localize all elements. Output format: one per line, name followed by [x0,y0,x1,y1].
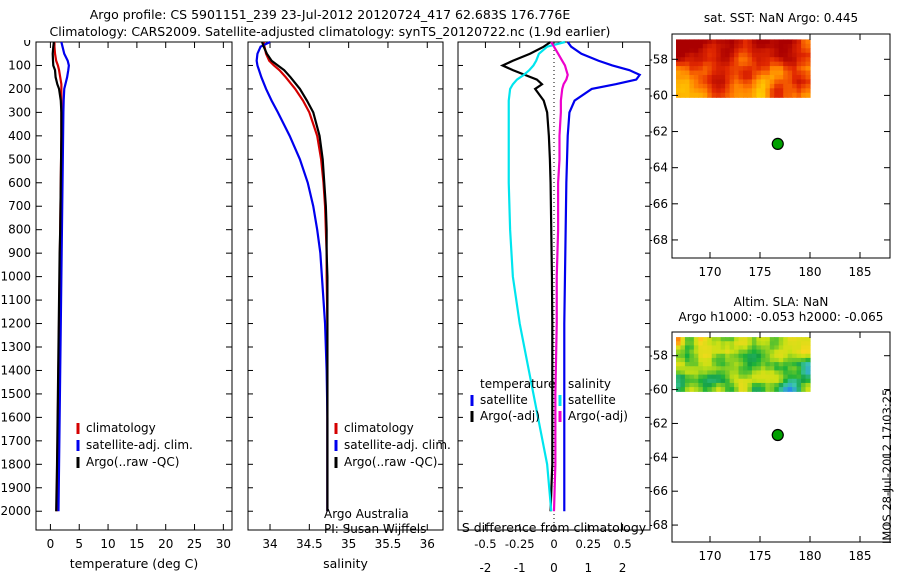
sla-map-panel[interactable]: Altim. SLA: NaNArgo h1000: -0.053 h2000:… [650,292,900,580]
title-line-2: Climatology: CARS2009. Satellite-adjuste… [0,23,660,40]
series-temperature-satellite [564,42,639,511]
legend-label: Argo(-adj) [480,409,540,423]
x-tick-label-bottom: -2 [479,561,491,575]
legend-label: Argo(..raw -QC) [86,455,179,469]
legend-heading: salinity [568,377,611,391]
x-tick-label: 25 [187,537,202,551]
profile-location-marker[interactable] [772,430,783,441]
legend-label: climatology [86,421,156,435]
map-y-tick-label: -58 [650,349,668,363]
y-tick-label: 1700 [0,434,31,448]
series-satellite-adj-clim- [257,42,328,511]
sla-map-title: Altim. SLA: NaN [734,295,829,309]
y-tick-label: 1400 [0,363,31,377]
y-tick-label: 1300 [0,340,31,354]
legend-label: satellite [480,393,528,407]
y-tick-label: 600 [8,176,31,190]
legend-label: Argo(-adj) [568,409,628,423]
x-tick-label: 10 [100,537,115,551]
annotation-pi: PI: Susan Wijffels [324,522,426,536]
x-axis-label: temperature (deg C) [70,556,199,571]
y-tick-label: 400 [8,129,31,143]
sst-map-panel[interactable]: sat. SST: NaN Argo: 0.445-58-60-62-64-66… [650,8,900,294]
series-climatology [264,42,328,511]
figure-title: Argo profile: CS 5901151_239 23-Jul-2012… [0,6,660,40]
map-x-tick-label: 185 [849,265,872,279]
x-tick-label-bottom: 0 [550,561,558,575]
x-tick-label-top: 0 [550,537,557,551]
map-y-tick-label: -58 [650,52,668,66]
x-tick-label-top: -0.25 [505,537,535,551]
series-temperature-argo-adj- [503,42,553,511]
x-tick-label: 35.5 [375,537,402,551]
map-x-tick-label: 180 [799,265,822,279]
map-y-tick-label: -60 [650,383,668,397]
legend-label: climatology [344,421,414,435]
y-tick-label: 200 [8,82,31,96]
legend-label: Argo(..raw -QC) [344,455,437,469]
y-tick-label: 1800 [0,457,31,471]
map-y-tick-label: -66 [650,197,668,211]
legend-label: satellite-adj. clim. [86,438,193,452]
map-y-tick-label: -68 [650,518,668,532]
y-tick-label: 1000 [0,270,31,284]
map-x-tick-label: 185 [849,549,872,563]
map-x-tick-label: 180 [799,549,822,563]
profile-location-marker[interactable] [772,138,783,149]
sst-map-raster [676,39,811,97]
x-tick-label-bottom: 1 [584,561,592,575]
y-tick-label: 1100 [0,293,31,307]
x-axis-label: salinity [323,556,368,571]
map-x-tick-label: 175 [749,265,772,279]
map-y-tick-label: -66 [650,484,668,498]
temperature-panel[interactable]: 0100200300400500600700800900100011001200… [0,40,238,580]
y-tick-label: 900 [8,246,31,260]
x-tick-label: 15 [129,537,144,551]
x-tick-label-bottom: -1 [514,561,526,575]
title-line-1: Argo profile: CS 5901151_239 23-Jul-2012… [0,6,660,23]
map-y-tick-label: -64 [650,161,668,175]
legend-label: satellite-adj. clim. [344,438,451,452]
map-y-tick-label: -62 [650,416,668,430]
map-x-tick-label: 170 [699,265,722,279]
x-tick-label: 0 [47,537,55,551]
map-y-tick-label: -68 [650,233,668,247]
map-y-tick-label: -64 [650,450,668,464]
x-axis-label-top: S difference from climatology [462,520,647,535]
y-tick-label: 1900 [0,481,31,495]
annotation-organisation: Argo Australia [324,507,409,521]
y-tick-label: 100 [8,58,31,72]
x-tick-label: 20 [158,537,173,551]
x-tick-label: 36 [420,537,435,551]
map-x-tick-label: 175 [749,549,772,563]
imos-timestamp: IMOS 28-Jul-2012 17:03:25 [866,372,884,547]
y-tick-label: 800 [8,223,31,237]
map-y-tick-label: -60 [650,88,668,102]
x-tick-label: 34 [262,537,277,551]
y-tick-label: 300 [8,105,31,119]
x-tick-label-bottom: 2 [619,561,627,575]
salinity-panel[interactable]: 3434.53535.536salinityclimatologysatelli… [240,40,455,580]
y-tick-label: 500 [8,152,31,166]
x-tick-label-top: 0.5 [613,537,631,551]
series-argo-raw-qc- [262,42,327,511]
y-tick-label: 0 [23,40,31,49]
x-tick-label: 35 [341,537,356,551]
map-y-tick-label: -62 [650,125,668,139]
legend-heading: temperature [480,377,555,391]
y-tick-label: 1500 [0,387,31,401]
y-tick-label: 1600 [0,410,31,424]
map-x-tick-label: 170 [699,549,722,563]
difference-panel[interactable]: -0.5-0.2500.250.5-2-1012S difference fro… [450,40,660,580]
y-tick-label: 1200 [0,317,31,331]
y-tick-label: 700 [8,199,31,213]
imos-timestamp-text: IMOS 28-Jul-2012 17:03:25 [880,389,894,544]
sla-map-title: Argo h1000: -0.053 h2000: -0.065 [679,310,884,324]
legend-label: satellite [568,393,616,407]
x-tick-label: 30 [216,537,231,551]
x-tick-label-top: -0.5 [474,537,496,551]
y-tick-label: 2000 [0,504,31,518]
x-tick-label: 34.5 [296,537,323,551]
x-tick-label-top: 0.25 [575,537,601,551]
sla-map-raster [676,337,811,392]
sst-map-title: sat. SST: NaN Argo: 0.445 [704,11,858,25]
x-tick-label: 5 [75,537,83,551]
